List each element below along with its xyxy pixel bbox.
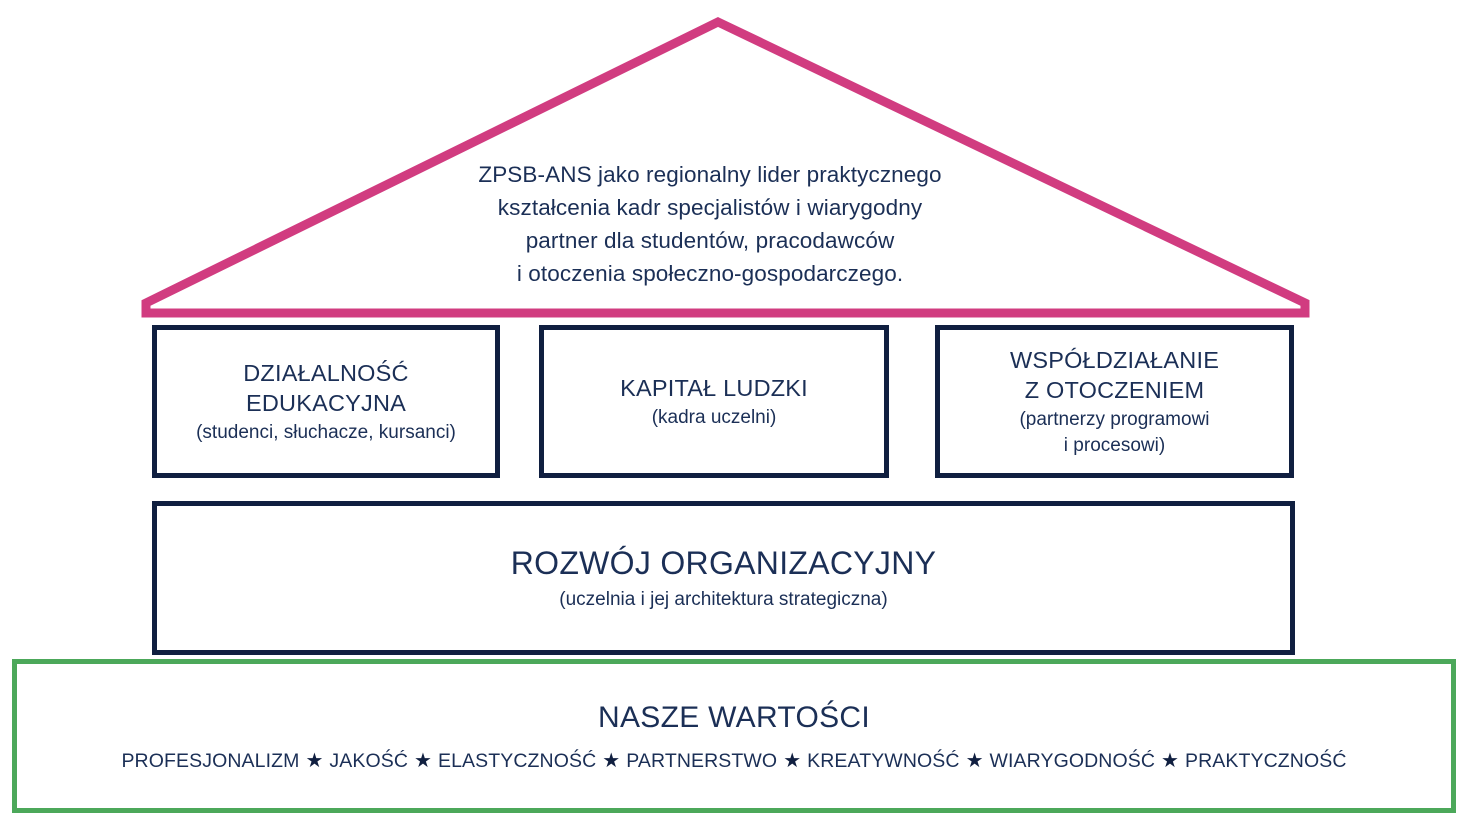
pillar-kapital-ludzki: KAPITAŁ LUDZKI (kadra uczelni) [539, 325, 889, 478]
pillar-title-line: Z OTOCZENIEM [1010, 375, 1219, 405]
strategy-house-diagram: ZPSB-ANS jako regionalny lider praktyczn… [0, 0, 1468, 832]
values-heading: NASZE WARTOŚCI [598, 699, 870, 737]
star-icon: ★ [960, 749, 990, 773]
star-icon: ★ [299, 749, 329, 773]
pillar-wspoldzialanie-z-otoczeniem: WSPÓŁDZIAŁANIE Z OTOCZENIEM (partnerzy p… [935, 325, 1294, 478]
star-icon: ★ [777, 749, 807, 773]
roof-line: ZPSB-ANS jako regionalny lider praktyczn… [380, 158, 1040, 191]
pillar-title: WSPÓŁDZIAŁANIE Z OTOCZENIEM [1010, 345, 1219, 405]
value-item: PROFESJONALIZM [121, 749, 299, 773]
pillar-subtitle-line: i procesowi) [1019, 433, 1209, 459]
value-item: WIARYGODNOŚĆ [990, 749, 1156, 773]
pillar-subtitle: (partnerzy programowi i procesowi) [1019, 407, 1209, 459]
pillar-dzialalnosc-edukacyjna: DZIAŁALNOŚĆ EDUKACYJNA (studenci, słucha… [152, 325, 500, 478]
star-icon: ★ [596, 749, 626, 773]
pillar-subtitle-line: (studenci, słuchacze, kursanci) [196, 420, 456, 446]
band-rozwoj-organizacyjny: ROZWÓJ ORGANIZACYJNY (uczelnia i jej arc… [152, 501, 1295, 655]
roof-line: kształcenia kadr specjalistów i wiarygod… [380, 191, 1040, 224]
value-item: PARTNERSTWO [626, 749, 777, 773]
pillar-title: DZIAŁALNOŚĆ EDUKACYJNA [243, 358, 408, 418]
band-subtitle: (uczelnia i jej architektura strategiczn… [559, 586, 887, 613]
pillar-title-line: DZIAŁALNOŚĆ [243, 358, 408, 388]
value-item: PRAKTYCZNOŚĆ [1185, 749, 1347, 773]
roof-line: partner dla studentów, pracodawców [380, 224, 1040, 257]
pillar-title-line: KAPITAŁ LUDZKI [620, 373, 808, 403]
value-item: ELASTYCZNOŚĆ [438, 749, 596, 773]
pillar-title-line: EDUKACYJNA [243, 388, 408, 418]
pillar-title: KAPITAŁ LUDZKI [620, 373, 808, 403]
star-icon: ★ [408, 749, 438, 773]
band-title: ROZWÓJ ORGANIZACYJNY [511, 543, 937, 583]
pillar-subtitle: (kadra uczelni) [652, 405, 777, 431]
pillar-subtitle: (studenci, słuchacze, kursanci) [196, 420, 456, 446]
values-list: PROFESJONALIZM★JAKOŚĆ★ELASTYCZNOŚĆ★PARTN… [121, 749, 1346, 773]
pillar-subtitle-line: (partnerzy programowi [1019, 407, 1209, 433]
star-icon: ★ [1155, 749, 1185, 773]
pillar-title-line: WSPÓŁDZIAŁANIE [1010, 345, 1219, 375]
value-item: KREATYWNOŚĆ [807, 749, 959, 773]
foundation-nasze-wartosci: NASZE WARTOŚCI PROFESJONALIZM★JAKOŚĆ★ELA… [12, 659, 1456, 813]
value-item: JAKOŚĆ [329, 749, 408, 773]
roof-shape: ZPSB-ANS jako regionalny lider praktyczn… [0, 0, 1468, 320]
roof-mission-text: ZPSB-ANS jako regionalny lider praktyczn… [380, 158, 1040, 290]
roof-line: i otoczenia społeczno-gospodarczego. [380, 257, 1040, 290]
pillar-subtitle-line: (kadra uczelni) [652, 405, 777, 431]
